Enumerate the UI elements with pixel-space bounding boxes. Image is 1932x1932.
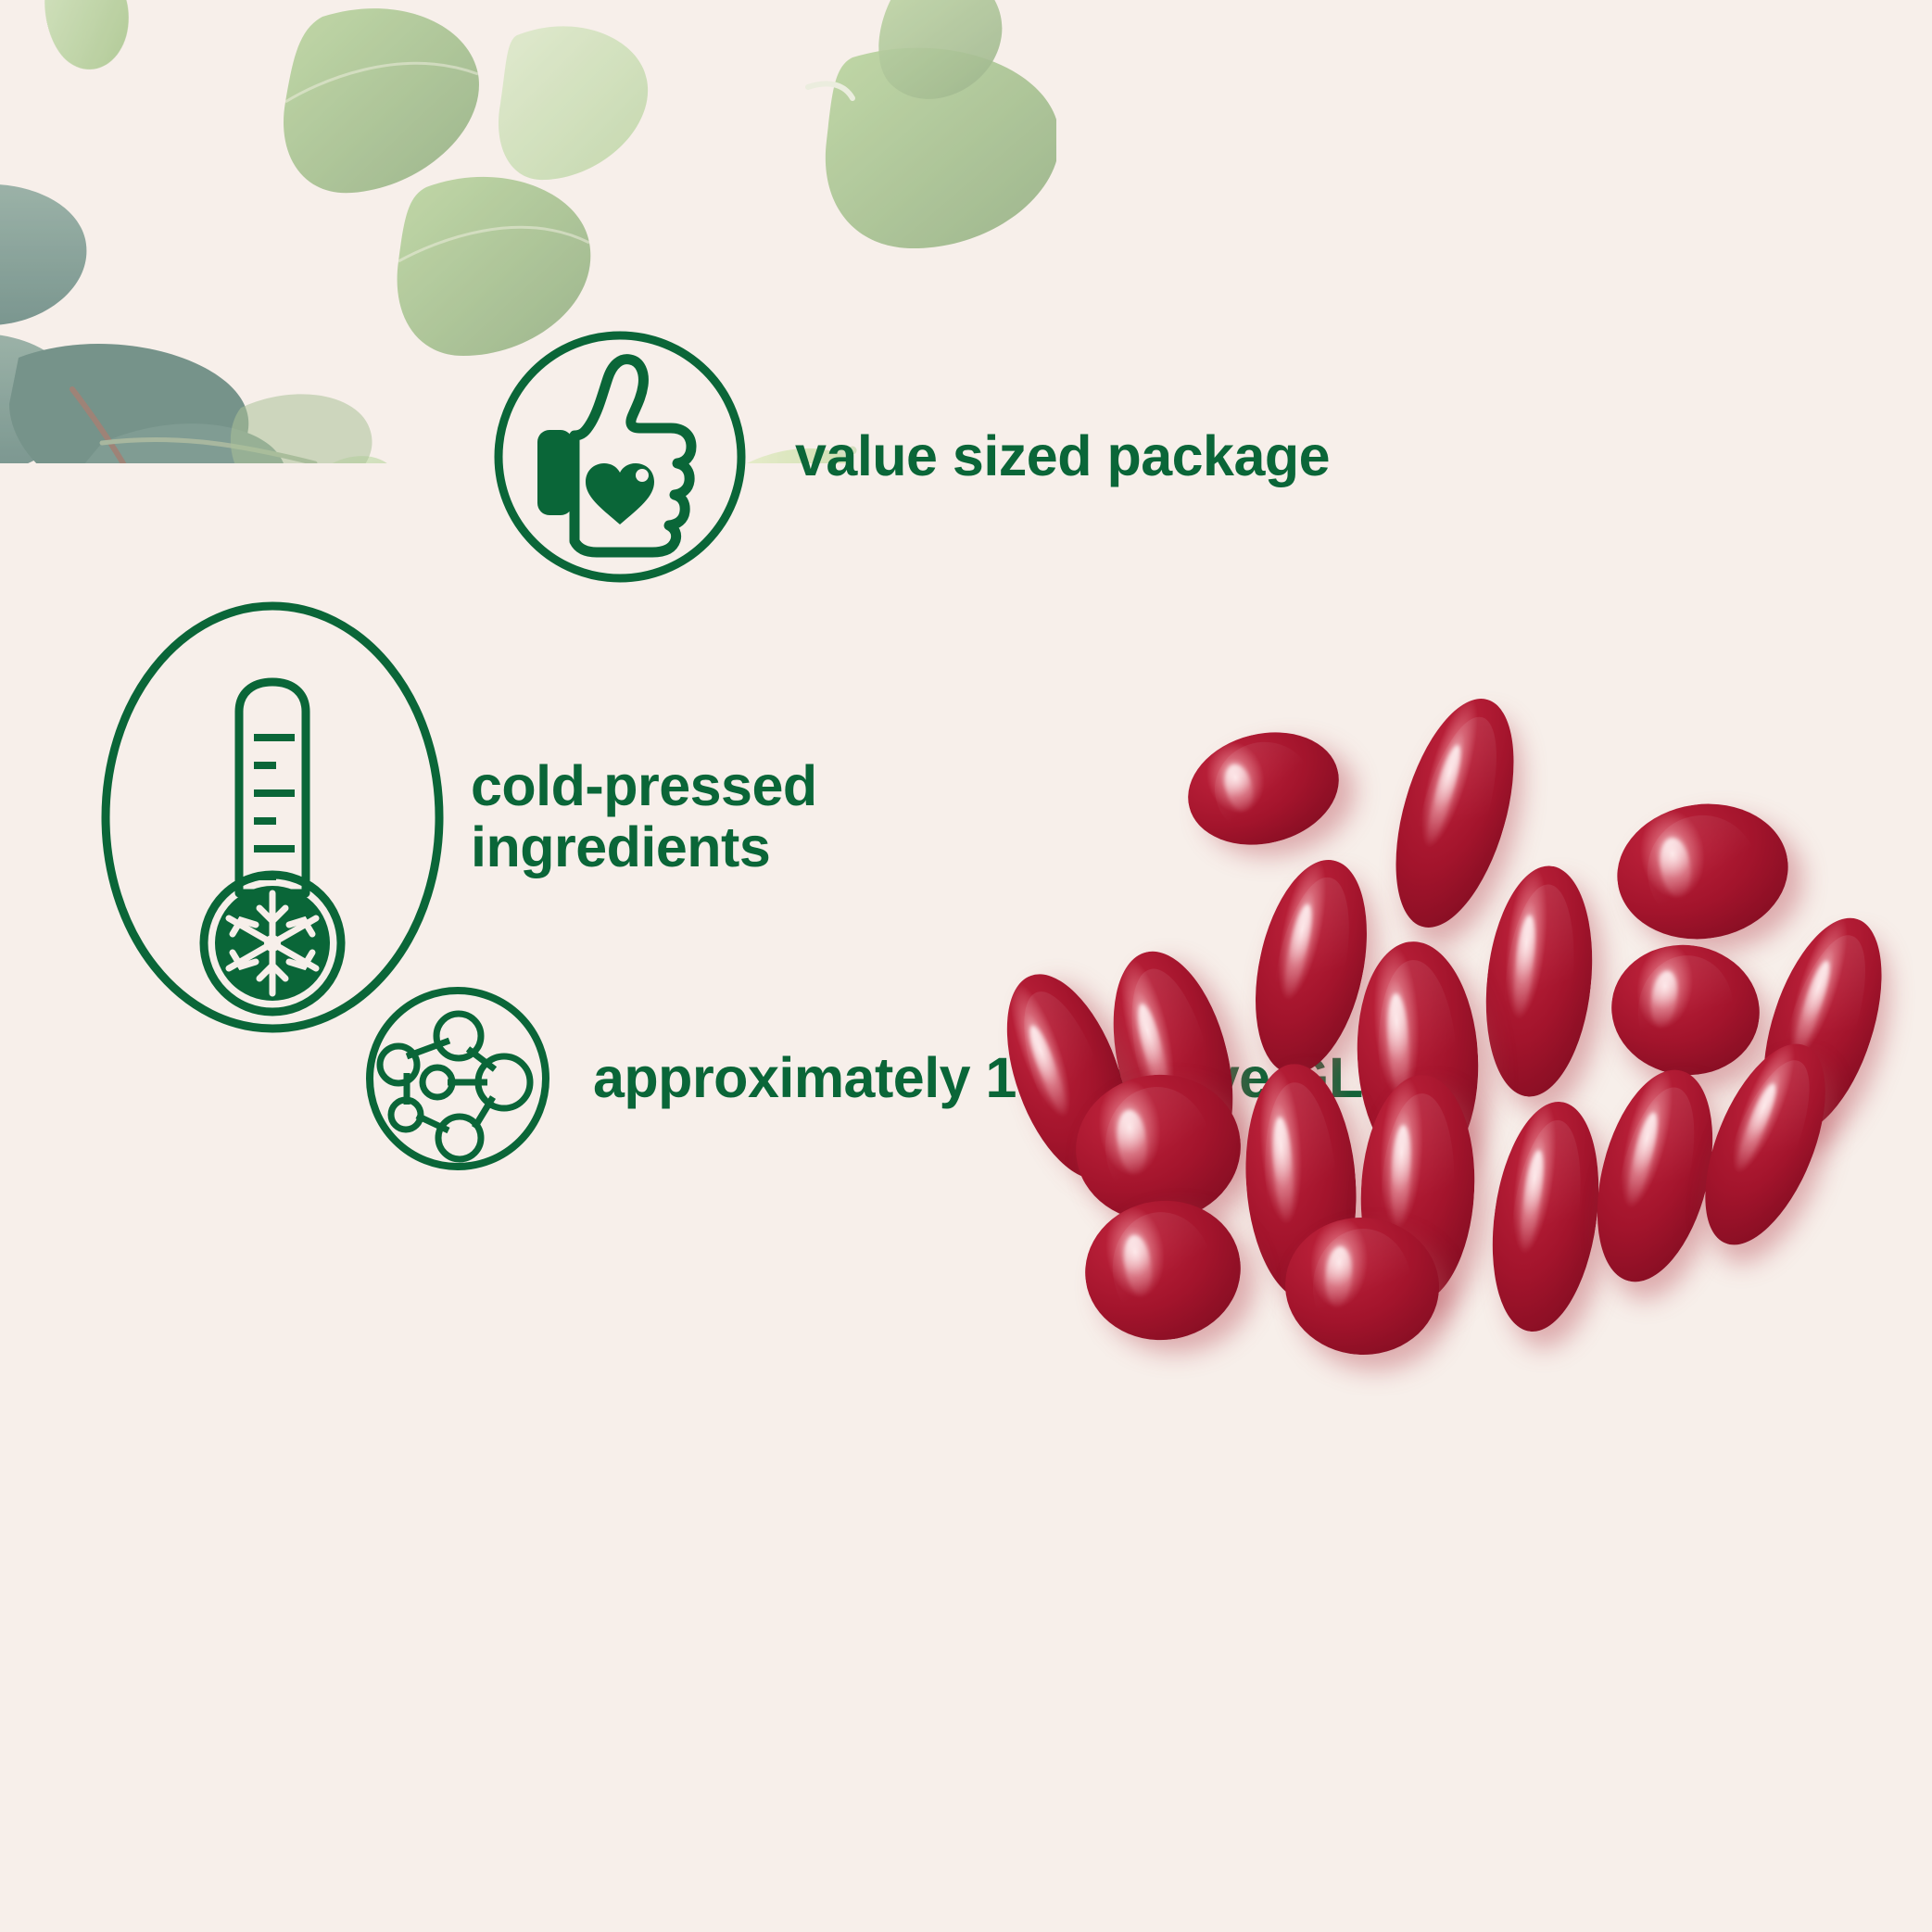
- capsule: [1475, 861, 1603, 1102]
- thumbs-up-heart-icon: [489, 326, 751, 587]
- feature-label-cold-pressed-ingredients: cold-pressed ingredients: [471, 756, 817, 878]
- capsule: [1609, 793, 1797, 950]
- capsule: [1076, 1191, 1249, 1350]
- infographic-canvas: value sized package: [0, 0, 1932, 1932]
- molecule-icon: [363, 984, 552, 1173]
- red-softgel-capsules-image: [968, 686, 1895, 1316]
- capsule: [1603, 936, 1768, 1085]
- thermometer-snowflake-icon: [100, 600, 445, 1034]
- capsule: [1176, 717, 1351, 860]
- capsule: [1479, 1095, 1612, 1339]
- feature-label-value-sized-package: value sized package: [795, 426, 1330, 487]
- feature-row-cold-pressed-ingredients: cold-pressed ingredients: [100, 600, 817, 1034]
- feature-row-value-sized-package: value sized package: [489, 326, 1330, 587]
